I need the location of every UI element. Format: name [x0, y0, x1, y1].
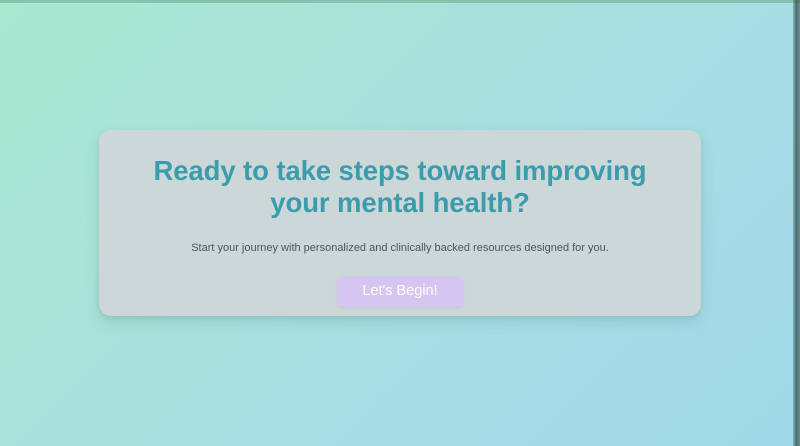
page-title: Ready to take steps toward improving you… — [135, 155, 665, 219]
page-root: Ready to take steps toward improving you… — [0, 0, 800, 446]
right-edge-scrollbar-gutter[interactable] — [793, 0, 800, 446]
cta-button-row: Let's Begin! — [135, 257, 665, 307]
top-edge-rule — [0, 0, 800, 3]
cta-card: Ready to take steps toward improving you… — [99, 130, 701, 316]
cta-subtitle: Start your journey with personalized and… — [135, 219, 665, 256]
lets-begin-button[interactable]: Let's Begin! — [337, 276, 463, 307]
